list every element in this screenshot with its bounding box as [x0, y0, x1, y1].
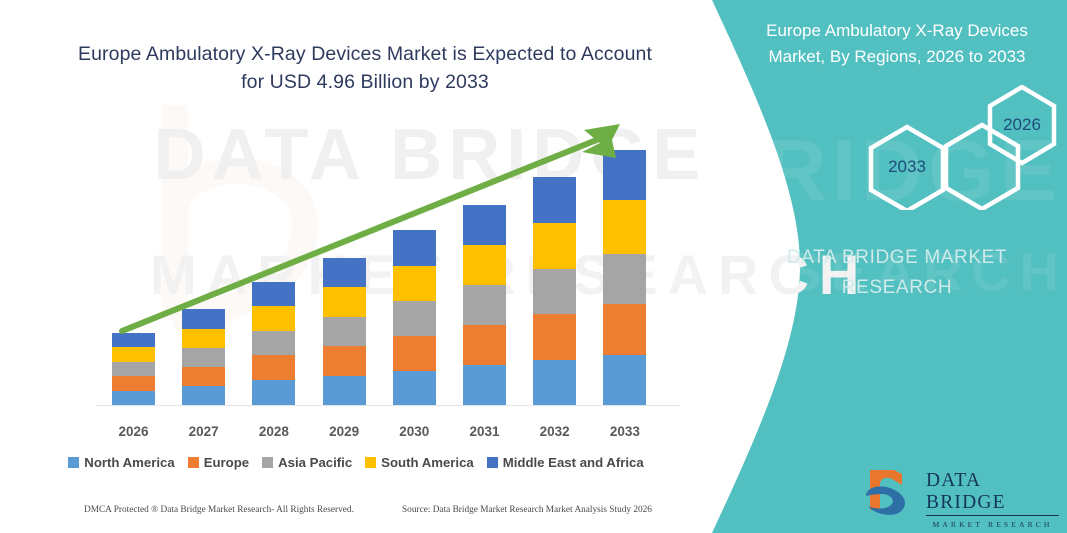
right-panel-title: Europe Ambulatory X-Ray Devices Market, … — [737, 18, 1057, 70]
bar-2029 — [323, 258, 366, 405]
legend-item-asia-pacific[interactable]: Asia Pacific — [262, 455, 352, 470]
bar-segment — [533, 269, 576, 314]
bar-segment — [112, 347, 155, 362]
right-panel-title-line1: Europe Ambulatory X-Ray Devices — [737, 18, 1057, 44]
x-axis-label-2033: 2033 — [595, 424, 655, 439]
legend-label: Asia Pacific — [278, 455, 352, 470]
footer: DMCA Protected ® Data Bridge Market Rese… — [0, 505, 712, 525]
bar-segment — [323, 287, 366, 317]
bar-segment — [463, 285, 506, 325]
x-axis-label-2028: 2028 — [244, 424, 304, 439]
bar-segment — [182, 309, 225, 329]
chart-area: DATA BRIDGE MARKET RESEARCH Europe Ambul… — [0, 0, 712, 533]
bar-segment — [603, 304, 646, 355]
bar-segment — [252, 355, 295, 380]
page-title: Europe Ambulatory X-Ray Devices Market i… — [70, 40, 660, 96]
bar-2031 — [463, 205, 506, 405]
chart-legend: North AmericaEuropeAsia PacificSouth Ame… — [0, 455, 712, 470]
bar-segment — [393, 230, 436, 266]
bar-segment — [252, 306, 295, 331]
bar-segment — [393, 371, 436, 405]
bar-segment — [393, 336, 436, 371]
bar-segment — [393, 266, 436, 301]
legend-swatch-icon — [68, 457, 79, 468]
footer-source: Source: Data Bridge Market Research Mark… — [402, 505, 652, 515]
bar-segment — [533, 223, 576, 269]
bar-segment — [182, 367, 225, 386]
bar-2028 — [252, 282, 295, 405]
bar-segment — [112, 391, 155, 405]
bar-segment — [603, 355, 646, 405]
bar-segment — [323, 346, 366, 376]
bar-segment — [463, 325, 506, 365]
bar-segment — [603, 150, 646, 200]
x-axis-label-2027: 2027 — [174, 424, 234, 439]
page-title-line2: for USD 4.96 Billion by 2033 — [70, 68, 660, 96]
right-panel: Europe Ambulatory X-Ray Devices Market, … — [712, 0, 1067, 533]
bar-segment — [112, 333, 155, 347]
hexagon-label-2033: 2033 — [872, 157, 942, 177]
legend-swatch-icon — [487, 457, 498, 468]
bar-segment — [252, 331, 295, 355]
legend-label: Middle East and Africa — [503, 455, 644, 470]
right-panel-title-line2: Market, By Regions, 2026 to 2033 — [737, 44, 1057, 70]
legend-item-south-america[interactable]: South America — [365, 455, 474, 470]
logo-mark-icon — [864, 466, 926, 518]
x-axis-label-2031: 2031 — [455, 424, 515, 439]
legend-item-north-america[interactable]: North America — [68, 455, 174, 470]
bar-2030 — [393, 230, 436, 405]
x-axis-label-2026: 2026 — [104, 424, 164, 439]
x-axis-label-2032: 2032 — [525, 424, 585, 439]
bar-segment — [463, 365, 506, 405]
bar-segment — [323, 317, 366, 346]
bar-segment — [323, 376, 366, 405]
bar-segment — [323, 258, 366, 287]
footer-copyright: DMCA Protected ® Data Bridge Market Rese… — [84, 505, 354, 515]
infographic-root: BRIDGE RESEARCH DATA BRIDGE MARKET RESEA… — [0, 0, 1067, 533]
legend-item-middle-east-and-africa[interactable]: Middle East and Africa — [487, 455, 644, 470]
bar-segment — [533, 360, 576, 405]
page-title-line1: Europe Ambulatory X-Ray Devices Market i… — [70, 40, 660, 68]
legend-item-europe[interactable]: Europe — [188, 455, 249, 470]
logo-subtitle: MARKET RESEARCH — [926, 518, 1059, 531]
bar-segment — [603, 200, 646, 254]
logo-text: DATA BRIDGE MARKET RESEARCH — [926, 470, 1059, 531]
logo-title: DATA BRIDGE — [926, 470, 1059, 516]
bar-segment — [252, 282, 295, 306]
company-logo: DATA BRIDGE MARKET RESEARCH — [864, 462, 1059, 522]
brand-watermark-line1: DATA BRIDGE MARKET — [737, 243, 1057, 273]
bar-segment — [112, 376, 155, 391]
hexagon-2033-shape — [946, 125, 1018, 209]
bar-2033 — [603, 150, 646, 405]
bar-segment — [393, 301, 436, 336]
bar-segment — [463, 205, 506, 245]
brand-watermark-line2: RESEARCH — [737, 273, 1057, 303]
bar-segment — [182, 386, 225, 405]
legend-label: North America — [84, 455, 174, 470]
hexagon-label-2026: 2026 — [987, 115, 1057, 135]
bar-segment — [603, 254, 646, 304]
bar-segment — [112, 362, 155, 376]
legend-swatch-icon — [262, 457, 273, 468]
bar-2026 — [112, 333, 155, 405]
bar-segment — [182, 348, 225, 367]
bar-segment — [252, 380, 295, 405]
hexagon-group: 2026 2033 — [822, 85, 1067, 210]
bar-segment — [463, 245, 506, 285]
bar-segment — [533, 177, 576, 223]
legend-label: Europe — [204, 455, 249, 470]
bar-2027 — [182, 309, 225, 405]
legend-label: South America — [381, 455, 474, 470]
x-axis-label-2030: 2030 — [384, 424, 444, 439]
bar-segment — [533, 314, 576, 360]
legend-swatch-icon — [365, 457, 376, 468]
bar-2032 — [533, 177, 576, 405]
bar-segment — [182, 329, 225, 348]
x-axis-labels: 20262027202820292030203120322033 — [0, 424, 712, 444]
legend-swatch-icon — [188, 457, 199, 468]
x-axis-label-2029: 2029 — [314, 424, 374, 439]
brand-watermark: DATA BRIDGE MARKET RESEARCH — [737, 243, 1057, 303]
